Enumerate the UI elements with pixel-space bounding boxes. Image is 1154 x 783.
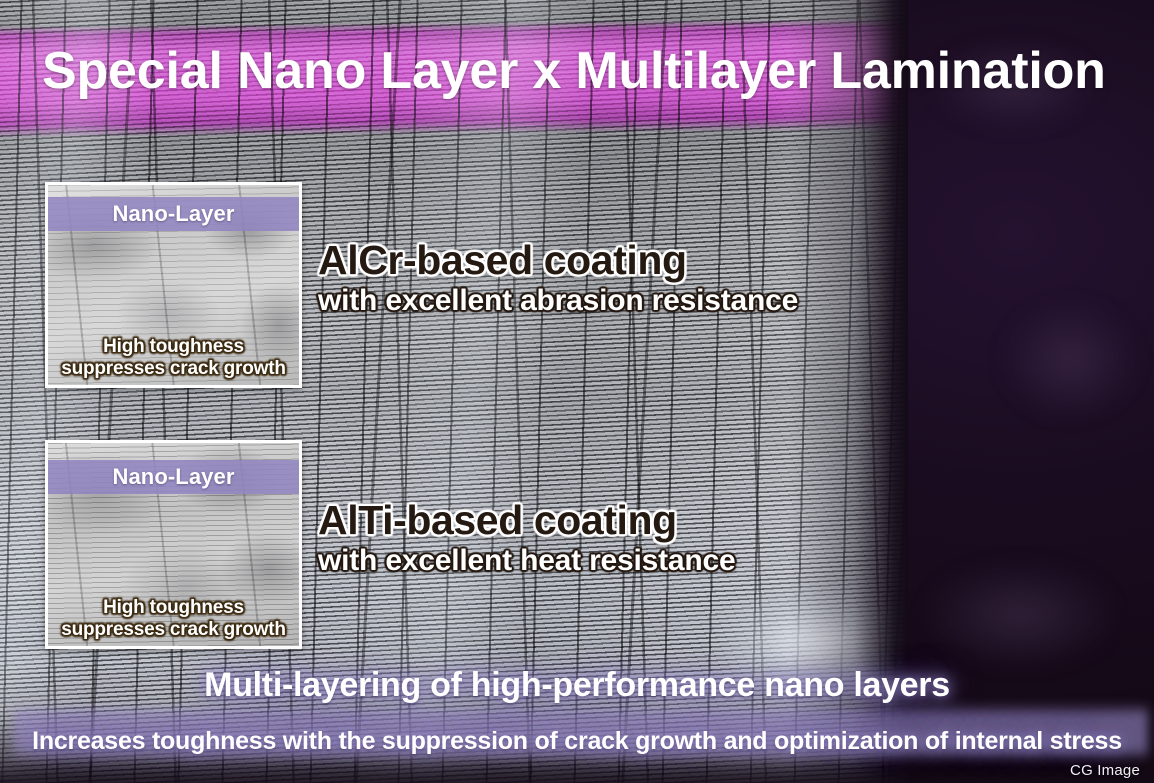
- panel-header-label-1: Nano-Layer: [112, 201, 234, 227]
- callout-alcr: AlCr-based coating with excellent abrasi…: [318, 238, 798, 318]
- callout-alcr-subheading: with excellent abrasion resistance: [318, 284, 798, 318]
- panel-header-band-2: Nano-Layer: [48, 460, 299, 494]
- panel-caption-line2: suppresses crack growth: [48, 358, 299, 379]
- panel-caption-line1: High toughness: [48, 336, 299, 357]
- panel-header-band-1: Nano-Layer: [48, 197, 299, 231]
- slide-root: Special Nano Layer x Multilayer Laminati…: [0, 0, 1154, 783]
- summary-subline: Increases toughness with the suppression…: [0, 727, 1154, 756]
- nano-layer-panel-2: Nano-Layer High toughness suppresses cra…: [45, 440, 302, 649]
- summary-headline: Multi-layering of high-performance nano …: [0, 666, 1154, 705]
- callout-alcr-heading: AlCr-based coating: [318, 238, 798, 282]
- nano-layer-panel-1: Nano-Layer High toughness suppresses cra…: [45, 182, 302, 388]
- image-credit: CG Image: [1070, 762, 1140, 779]
- panel-caption-line2: suppresses crack growth: [48, 619, 299, 640]
- callout-alti-subheading: with excellent heat resistance: [318, 544, 736, 578]
- callout-alti-heading: AlTi-based coating: [318, 498, 736, 542]
- panel-caption-2: High toughness suppresses crack growth: [48, 597, 299, 640]
- panel-header-label-2: Nano-Layer: [112, 464, 234, 490]
- callout-alti: AlTi-based coating with excellent heat r…: [318, 498, 736, 578]
- panel-caption-1: High toughness suppresses crack growth: [48, 336, 299, 379]
- page-title: Special Nano Layer x Multilayer Laminati…: [42, 44, 1122, 99]
- panel-caption-line1: High toughness: [48, 597, 299, 618]
